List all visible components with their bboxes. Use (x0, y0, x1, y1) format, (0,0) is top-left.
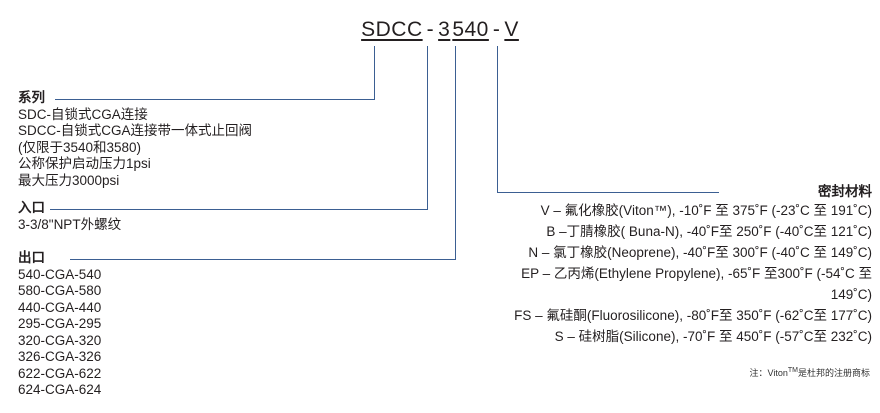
outlet-line-1: 540-CGA-540 (18, 267, 101, 284)
leader-line-inlet-vertical (427, 46, 428, 210)
seal-material-list: V – 氟化橡胶(Viton™), -10˚F 至 375˚F (-23˚C 至… (440, 200, 872, 347)
part-number-breakdown-diagram: SDCC-3540-V 系列 SDC-自锁式CGA连接 SDCC-自锁式CGA连… (0, 0, 880, 413)
seal-material-item-fluorosilicone: FS – 氟硅酮(Fluorosilicone), -80˚F至 350˚F (… (440, 305, 872, 326)
part-number-separator-2: - (490, 18, 504, 41)
footnote-prefix: 注：Viton (750, 368, 788, 378)
seal-material-item-ethylene-propylene-wrap: 149˚C) (440, 284, 872, 305)
trademark-footnote: 注：VitonTM是杜邦的注册商标 (750, 366, 870, 379)
outlet-header: 出口 (18, 250, 101, 267)
outlet-line-3: 440-CGA-440 (18, 300, 101, 317)
leader-line-seal-horizontal (497, 192, 719, 193)
part-number-separator-1: - (424, 18, 438, 41)
leader-line-seal-vertical (497, 46, 498, 193)
outlet-block: 出口 540-CGA-540 580-CGA-580 440-CGA-440 2… (18, 250, 101, 399)
inlet-block: 入口 3-3/8"NPT外螺纹 (18, 200, 121, 233)
outlet-line-6: 326-CGA-326 (18, 349, 101, 366)
part-number-title: SDCC-3540-V (0, 18, 880, 42)
inlet-line-1: 3-3/8"NPT外螺纹 (18, 217, 121, 234)
leader-line-outlet-horizontal (70, 259, 456, 260)
series-line-2: SDCC-自锁式CGA连接带一体式止回阀 (18, 123, 252, 140)
seal-material-item-neoprene: N – 氯丁橡胶(Neoprene), -40˚F至 300˚F (-40˚C … (440, 242, 872, 263)
outlet-line-7: 622-CGA-622 (18, 366, 101, 383)
series-line-3: (仅限于3540和3580) (18, 140, 252, 157)
series-line-4: 公称保护启动压力1psi (18, 156, 252, 173)
series-line-5: 最大压力3000psi (18, 173, 252, 190)
outlet-line-2: 580-CGA-580 (18, 283, 101, 300)
series-header: 系列 (18, 90, 252, 107)
footnote-trademark-symbol: TM (788, 367, 798, 374)
seal-material-header: 密封材料 (818, 180, 872, 200)
outlet-line-5: 320-CGA-320 (18, 333, 101, 350)
part-number-segment-series: SDCC (360, 18, 424, 41)
seal-material-item-viton: V – 氟化橡胶(Viton™), -10˚F 至 375˚F (-23˚C 至… (440, 200, 872, 221)
seal-material-item-buna-n: B –丁腈橡胶( Buna-N), -40˚F至 250˚F (-40˚C至 1… (440, 221, 872, 242)
part-number-segment-inlet: 3 (437, 18, 451, 41)
series-line-1: SDC-自锁式CGA连接 (18, 107, 252, 124)
outlet-line-8: 624-CGA-624 (18, 382, 101, 399)
part-number-segment-outlet: 540 (451, 18, 490, 41)
part-number-segment-seal: V (503, 18, 520, 41)
seal-material-item-silicone: S – 硅树脂(Silicone), -70˚F 至 450˚F (-57˚C至… (440, 326, 872, 347)
leader-line-series-vertical (374, 46, 375, 100)
seal-material-item-ethylene-propylene: EP – 乙丙烯(Ethylene Propylene), -65˚F 至300… (440, 263, 872, 284)
footnote-suffix: 是杜邦的注册商标 (798, 368, 870, 378)
outlet-line-4: 295-CGA-295 (18, 316, 101, 333)
inlet-header: 入口 (18, 200, 121, 217)
series-block: 系列 SDC-自锁式CGA连接 SDCC-自锁式CGA连接带一体式止回阀 (仅限… (18, 90, 252, 189)
